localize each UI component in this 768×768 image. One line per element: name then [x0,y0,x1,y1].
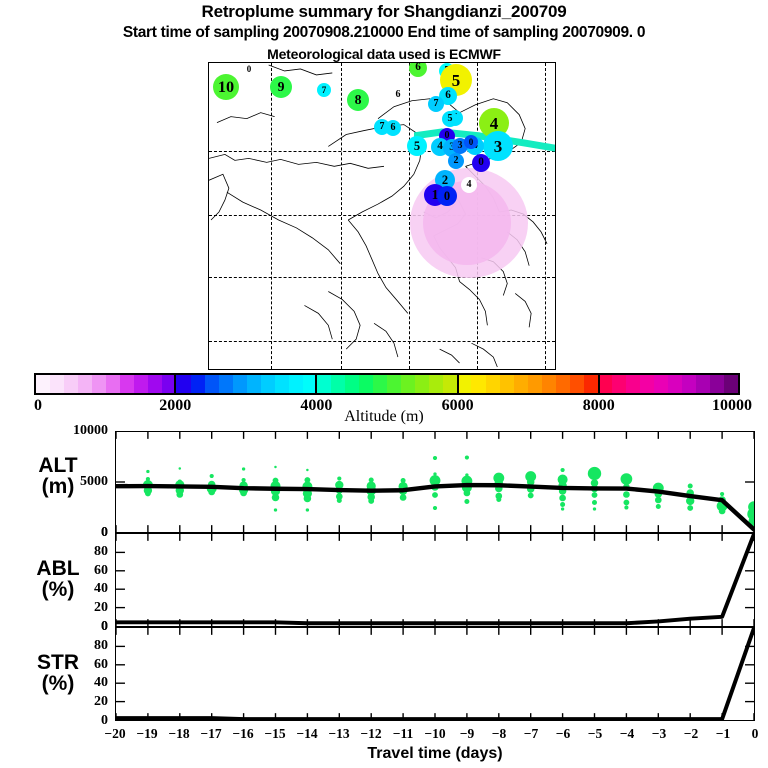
colorbar-cell [584,375,598,393]
altitude-scatter-point [655,497,662,504]
altitude-colorbar [34,373,740,395]
colorbar-cell [78,375,92,393]
trajectory-day-marker: 10 [213,74,239,100]
altitude-scatter-point [588,467,601,480]
x-tick-label: −17 [200,726,221,742]
day-marker-label: 5 [448,114,453,124]
altitude-scatter-point [306,508,309,511]
meteorological-data-line: Meteorological data used is ECMWF [0,46,768,62]
day-marker-label: 6 [391,123,396,133]
altitude-scatter-point [432,492,438,498]
colorbar-cell [289,375,303,393]
altitude-scatter-point [719,508,726,515]
colorbar-cell [457,375,471,393]
colorbar-cell [401,375,415,393]
colorbar-cell [148,375,162,393]
colorbar-gradient [34,373,740,395]
abl-ytick-label: 80 [42,544,108,560]
colorbar-cell [317,375,331,393]
colorbar-cell [640,375,654,393]
x-tick-label: −7 [524,726,538,742]
x-tick-label: −3 [652,726,666,742]
x-tick-label: −18 [168,726,189,742]
colorbar-cell [36,375,50,393]
colorbar-cell [92,375,106,393]
str-timeseries-panel [115,627,755,721]
altitude-scatter-point [687,505,693,511]
trajectory-day-marker: 9 [270,76,292,98]
altitude-scatter-point [274,508,277,511]
day-marker-label: 2 [442,174,448,187]
day-marker-label: 8 [355,93,362,107]
altitude-scatter-point [623,500,629,506]
colorbar-cell [500,375,514,393]
altitude-scatter-point [337,476,341,480]
altitude-scatter-point [274,466,277,468]
altitude-scatter-point [593,507,596,510]
trajectory-day-marker: 5 [442,111,458,127]
altitude-scatter-point [433,506,437,510]
altitude-scatter-point [433,456,437,460]
colorbar-cell [429,375,443,393]
day-marker-label: 6 [445,90,451,101]
colorbar-cell [205,375,219,393]
x-tick-label: −6 [556,726,570,742]
trajectory-day-marker: 5 [407,136,427,156]
str-ytick-label: 40 [42,675,108,691]
altitude-scatter-point [304,495,312,502]
day-marker-label: 4 [467,180,472,190]
day-marker-label: 10 [218,79,234,95]
trajectory-day-marker: 0 [472,154,490,172]
colorbar-cell [415,375,429,393]
page-title: Retroplume summary for Shangdianzi_20070… [0,2,768,22]
alt-ytick-label: 10000 [42,423,108,439]
trajectory-day-marker: 8 [347,89,369,111]
colorbar-cell [219,375,233,393]
x-tick-label: −16 [232,726,253,742]
day-marker-label: 0 [478,157,484,168]
altitude-plot-area [116,432,754,532]
colorbar-cell [612,375,626,393]
day-marker-label: 2 [454,156,459,166]
altitude-scatter-point [592,492,598,498]
colorbar-cell [120,375,134,393]
day-marker-label: 4 [490,115,499,132]
x-tick-label: −14 [296,726,317,742]
colorbar-cell [134,375,148,393]
trajectory-day-marker: 0 [437,186,457,206]
map-gridline-lon [341,63,342,369]
x-tick-label: −13 [328,726,349,742]
str-ytick-label: 20 [42,694,108,710]
abl-ytick-label: 40 [42,581,108,597]
colorbar-cell [275,375,289,393]
altitude-scatter-point [337,498,342,503]
day-marker-label: 0 [469,138,474,147]
str-ytick-label: 0 [42,619,108,635]
altitude-scatter-point [656,504,661,509]
x-tick-label: −8 [492,726,506,742]
str-ytick-label: 60 [42,657,108,673]
colorbar-cell [724,375,738,393]
altitude-scatter-point [560,502,565,507]
abl-ytick-label: 0 [42,525,108,541]
colorbar-cell [106,375,120,393]
colorbar-cell [598,375,612,393]
altitude-scatter-point [179,467,182,469]
altitude-scatter-point [561,507,564,510]
abl-timeseries-panel [115,533,755,627]
trajectory-day-marker: 0 [242,62,256,76]
altitude-scatter-point [464,499,469,504]
colorbar-cell [486,375,500,393]
altitude-scatter-point [496,497,501,502]
altitude-scatter-point [208,489,215,496]
colorbar-cell [373,375,387,393]
altitude-scatter-point [242,467,245,470]
altitude-scatter-point [306,469,309,471]
day-marker-label: 4 [437,141,443,152]
trajectory-day-marker: 7 [317,83,331,97]
x-tick-label: −2 [684,726,698,742]
trajectory-day-marker: 0 [464,135,478,149]
str-plot-area [116,628,754,720]
x-tick-label: 0 [752,726,759,742]
x-axis-title: Travel time (days) [115,745,755,763]
colorbar-cell [556,375,570,393]
day-marker-label: 7 [380,122,385,132]
altitude-scatter-point [368,498,374,504]
day-marker-label: 6 [415,62,421,73]
colorbar-cell [710,375,724,393]
abl-ytick-label: 60 [42,563,108,579]
day-marker-label: 7 [434,99,439,109]
x-tick-label: −1 [716,726,730,742]
altitude-scatter-point [720,492,724,496]
altitude-scatter-point [592,500,597,505]
colorbar-cell [64,375,78,393]
sampling-time-subtitle: Start time of sampling 20070908.210000 E… [0,24,768,42]
day-marker-label: 7 [322,86,327,95]
colorbar-divider [315,373,317,395]
day-marker-label: 6 [396,90,401,100]
x-tick-label: −12 [360,726,381,742]
colorbar-cell [570,375,584,393]
colorbar-cell [528,375,542,393]
day-marker-label: 0 [444,190,450,203]
altitude-scatter-point [210,474,214,478]
altitude-scatter-point [623,491,630,498]
trajectory-day-marker: 2 [448,153,464,169]
altitude-scatter-point [146,470,149,473]
trajectory-day-marker: 6 [385,120,401,136]
altitude-scatter-point [528,493,534,499]
altitude-scatter-point [688,484,693,489]
colorbar-cell [542,375,556,393]
altitude-scatter-point [400,494,407,501]
colorbar-title: Altitude (m) [0,408,768,426]
colorbar-cell [247,375,261,393]
x-tick-label: −10 [424,726,445,742]
colorbar-cell [682,375,696,393]
altitude-scatter-point [145,491,151,497]
colorbar-cell [443,375,457,393]
day-marker-label: 9 [278,80,285,94]
str-line [116,628,754,719]
day-marker-label: 5 [414,140,420,153]
colorbar-cell [345,375,359,393]
colorbar-cell [191,375,205,393]
colorbar-cell [331,375,345,393]
colorbar-cell [696,375,710,393]
colorbar-cell [50,375,64,393]
retroplume-map: 1090786676756755543404330202410 [208,62,556,370]
colorbar-cell [233,375,247,393]
altitude-timeseries-panel [115,431,755,533]
abl-plot-area [116,534,754,626]
colorbar-cell [626,375,640,393]
day-marker-label: 5 [452,72,461,89]
x-tick-label: −4 [620,726,634,742]
altitude-scatter-point [176,491,183,498]
altitude-scatter-point [559,495,566,502]
colorbar-cell [668,375,682,393]
colorbar-cell [387,375,401,393]
colorbar-divider [457,373,459,395]
day-marker-label: 3 [494,138,503,155]
x-tick-label: −9 [460,726,474,742]
altitude-scatter-point [464,490,471,497]
abl-line [116,534,754,623]
abl-ytick-label: 20 [42,600,108,616]
colorbar-cell [359,375,373,393]
trajectory-day-marker: 7 [428,96,444,112]
x-tick-label: −15 [264,726,285,742]
trajectory-day-marker: 4 [461,177,477,193]
trajectory-day-marker: 6 [390,87,406,103]
x-tick-label: −19 [136,726,157,742]
altitude-scatter-point [621,473,633,485]
altitude-scatter-point [465,455,469,459]
altitude-scatter-point [272,494,280,501]
colorbar-cell [514,375,528,393]
colorbar-cell [176,375,190,393]
x-tick-label: −5 [588,726,602,742]
x-tick-label-layer: −20−19−18−17−16−15−14−13−12−11−10−9−8−7−… [0,726,768,744]
day-marker-label: 3 [458,141,463,151]
x-tick-label: −11 [393,726,413,742]
map-gridline-lon [271,63,272,369]
colorbar-divider [174,373,176,395]
altitude-scatter-point [240,490,247,497]
altitude-scatter-point [561,468,565,472]
str-ytick-label: 80 [42,638,108,654]
colorbar-divider [598,373,600,395]
x-tick-label: −20 [104,726,125,742]
altitude-scatter-point [624,505,628,509]
alt-ytick-label: 5000 [42,474,108,490]
colorbar-cell [261,375,275,393]
day-marker-label: 0 [247,65,252,74]
colorbar-cell [654,375,668,393]
colorbar-cell [471,375,485,393]
